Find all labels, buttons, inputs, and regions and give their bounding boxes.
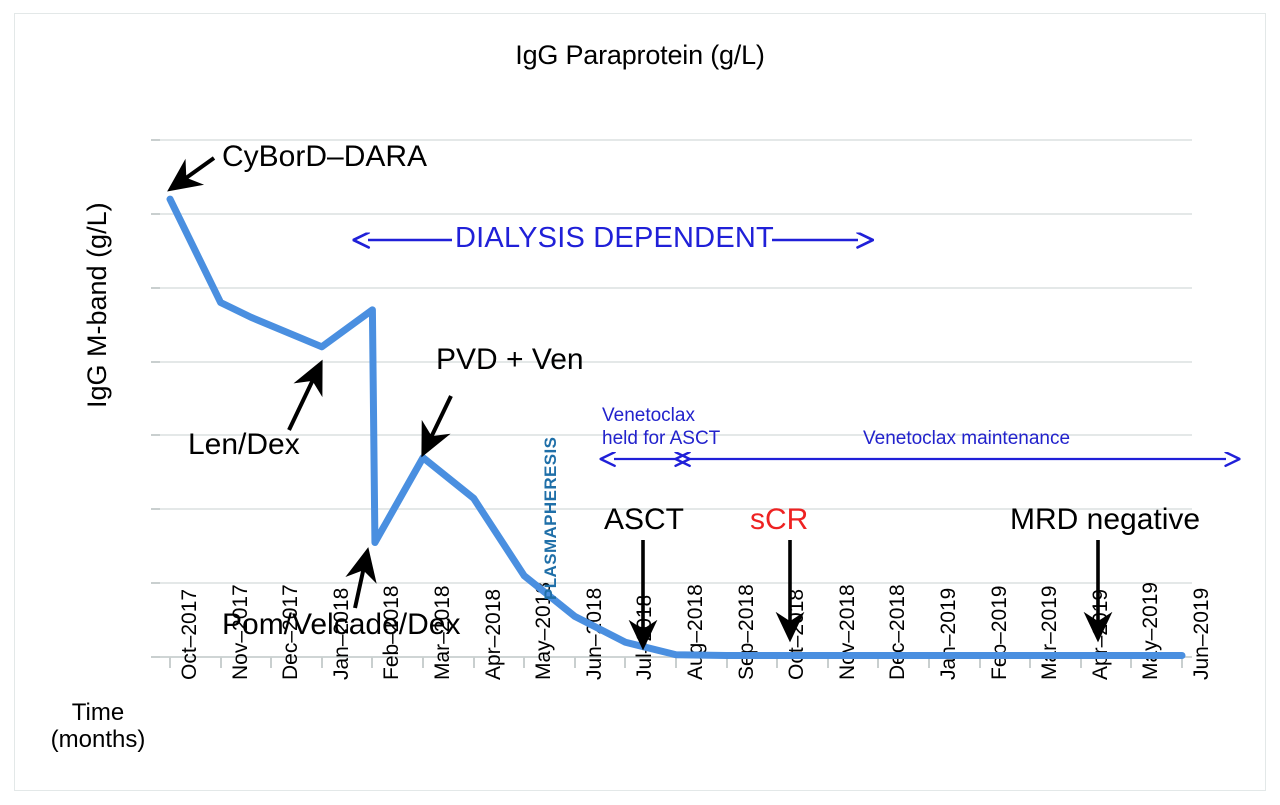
cyborddara-label: CyBorD–DARA: [222, 140, 427, 174]
plasmapheresis-label: PLASMAPHERESIS: [541, 437, 561, 600]
y-tick-mark: [151, 508, 160, 510]
x-tick-mark: [675, 657, 677, 668]
y-tick-mark: [151, 361, 160, 363]
pvdven-label: PVD + Ven: [436, 343, 584, 377]
dialysis-dependent-label: DIALYSIS DEPENDENT: [455, 222, 774, 255]
data-line-series: [160, 140, 1192, 657]
lendex-label: Len/Dex: [188, 428, 300, 462]
venetoclax-held-label: Venetoclax held for ASCT: [602, 405, 720, 451]
scr-label: sCR: [750, 503, 808, 537]
x-tick-mark: [220, 657, 222, 668]
x-tick-mark: [422, 657, 424, 668]
chart-figure: IgG Paraprotein (g/L) IgG M-band (g/L) 0…: [0, 0, 1280, 805]
y-axis-label: IgG M-band (g/L): [82, 202, 113, 408]
x-tick-mark: [371, 657, 373, 668]
x-tick-mark: [473, 657, 475, 668]
x-tick-mark: [321, 657, 323, 668]
page-title: IgG Paraprotein (g/L): [0, 40, 1280, 71]
x-tick-label: Jun–2019: [1190, 588, 1214, 680]
mrd-negative-label: MRD negative: [1010, 503, 1200, 537]
x-tick-mark: [270, 657, 272, 668]
y-tick-mark: [151, 213, 160, 215]
venetoclax-held-line2: held for ASCT: [602, 428, 720, 449]
x-axis-label-line1: Time: [72, 699, 124, 726]
y-tick-mark: [151, 139, 160, 141]
venetoclax-maintenance-label: Venetoclax maintenance: [863, 428, 1070, 451]
x-axis-label-line2: (months): [51, 726, 146, 753]
x-tick-mark: [169, 657, 171, 668]
asct-label: ASCT: [604, 503, 684, 537]
x-tick-mark: [523, 657, 525, 668]
y-tick-mark: [151, 287, 160, 289]
y-tick-mark: [151, 434, 160, 436]
x-axis-label: Time (months): [38, 700, 158, 754]
x-tick-mark: [624, 657, 626, 668]
venetoclax-held-line1: Venetoclax: [602, 405, 695, 426]
y-tick-mark: [151, 582, 160, 584]
x-tick-mark: [574, 657, 576, 668]
y-tick-mark: [151, 656, 160, 658]
plot-area: IgG M-band (g/L) 010203040506070 Oct–201…: [160, 140, 1192, 657]
pomvelcadedex-label: Pom/Velcade/Dex: [222, 608, 460, 642]
